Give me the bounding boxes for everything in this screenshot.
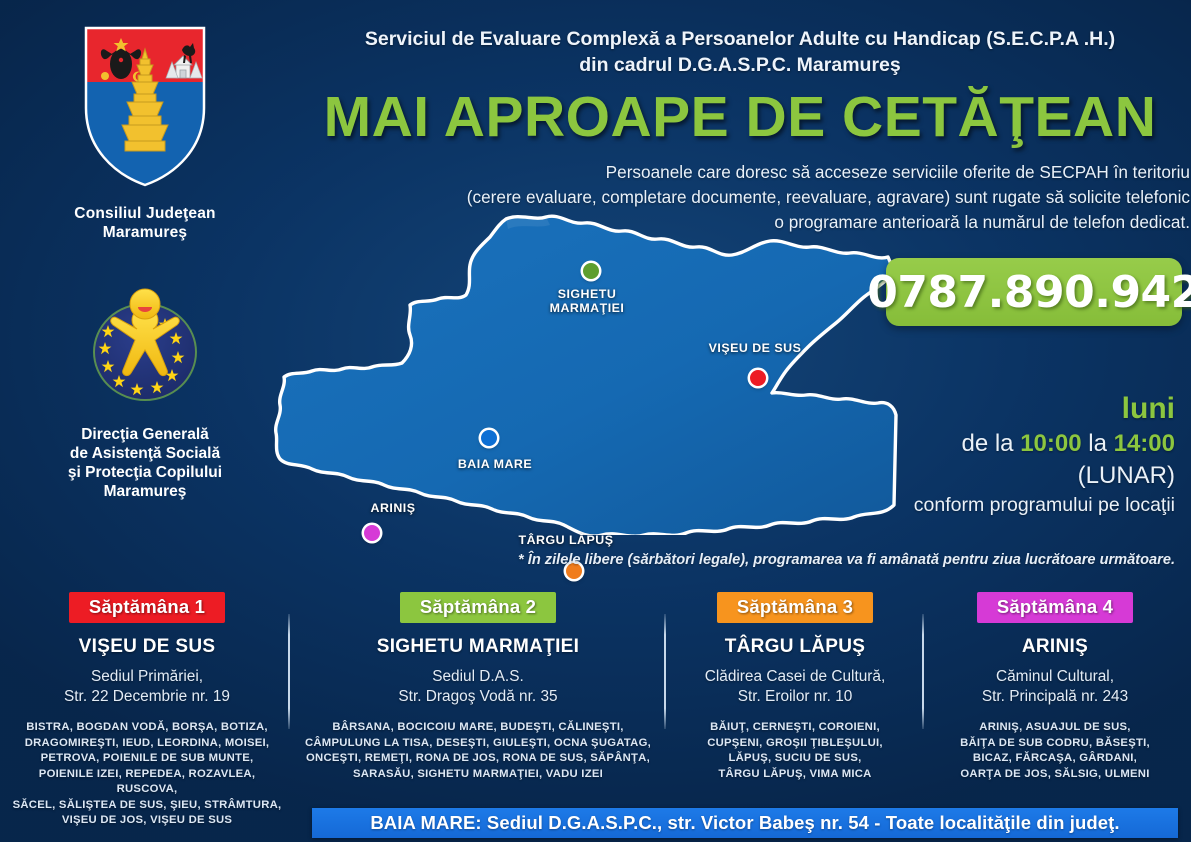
map-label-1: SIGHETU MARMAŢIEI [522, 287, 652, 315]
week-badge-1[interactable]: Săptămâna 1 [69, 592, 225, 623]
map-dot-3[interactable] [481, 430, 497, 446]
header-subtitle-line2: din cadrul D.G.A.S.P.C. Maramureş [300, 52, 1180, 78]
locality-line: LĂPUŞ, SUCIU DE SUS, [668, 751, 922, 767]
phone-number: 0787.890.942 [867, 267, 1191, 318]
locality-line: BISTRA, BOGDAN VODĂ, BORŞA, BOTIZA, [8, 720, 286, 736]
schedule-mid: la [1082, 430, 1114, 457]
week-address-line: Sediul D.A.S. [292, 667, 664, 687]
week-address-line: Str. Dragoş Vodă nr. 35 [292, 687, 664, 707]
locality-line: CUPŞENI, GROŞII ŢIBLEŞULUI, [668, 736, 922, 752]
locality-line: CÂMPULUNG LA TISA, DESEŞTI, GIULEŞTI, OC… [292, 736, 664, 752]
schedule-lunar: (LUNAR) [755, 460, 1175, 491]
locality-line: BĂIŢA DE SUB CODRU, BĂSEŞTI, [926, 736, 1184, 752]
week-divider-2 [664, 614, 666, 729]
crest-caption-line2: Maramureş [0, 223, 290, 242]
week-address-line: Str. Principală nr. 243 [926, 687, 1184, 707]
week-localities-3: BĂIUŢ, CERNEŞTI, COROIENI,CUPŞENI, GROŞI… [668, 720, 922, 782]
map-dot-2[interactable] [750, 370, 766, 386]
week-columns: Săptămâna 1VIŞEU DE SUSSediul Primăriei,… [0, 592, 1191, 807]
week-address-1: Sediul Primăriei,Str. 22 Decembrie nr. 1… [8, 667, 286, 707]
locality-line: BĂIUŢ, CERNEŞTI, COROIENI, [668, 720, 922, 736]
locality-line: PETROVA, POIENILE DE SUB MUNTE, [8, 751, 286, 767]
poster-root: Consiliul Judeţean Maramureş [0, 0, 1191, 842]
week-localities-4: ARINIŞ, ASUAJUL DE SUS,BĂIŢA DE SUB CODR… [926, 720, 1184, 782]
county-crest-icon [80, 24, 210, 194]
week-localities-2: BÂRSANA, BOCICOIU MARE, BUDEŞTI, CĂLINEŞ… [292, 720, 664, 782]
locality-line: BÂRSANA, BOCICOIU MARE, BUDEŞTI, CĂLINEŞ… [292, 720, 664, 736]
schedule-hours: de la 10:00 la 14:00 [755, 428, 1175, 460]
week-city-1: VIŞEU DE SUS [8, 636, 286, 658]
phone-number-box[interactable]: 0787.890.942 [886, 258, 1182, 326]
bottom-info-text: BAIA MARE: Sediul D.G.A.S.P.C., str. Vic… [370, 812, 1119, 834]
locality-line: ONCEŞTI, REMEŢI, RONA DE JOS, RONA DE SU… [292, 751, 664, 767]
locality-line: OARŢA DE JOS, SĂLSIG, ULMENI [926, 767, 1184, 783]
dgaspc-logo-icon [77, 278, 213, 415]
header-subtitle-line1: Serviciul de Evaluare Complexă a Persoan… [300, 26, 1180, 52]
week-badge-4[interactable]: Săptămâna 4 [977, 592, 1133, 623]
week-address-2: Sediul D.A.S.Str. Dragoş Vodă nr. 35 [292, 667, 664, 707]
map-label-3: BAIA MARE [430, 457, 560, 471]
week-city-3: TÂRGU LĂPUŞ [668, 636, 922, 658]
week-address-line: Sediul Primăriei, [8, 667, 286, 687]
locality-line: TÂRGU LĂPUŞ, VIMA MICA [668, 767, 922, 783]
week-address-line: Căminul Cultural, [926, 667, 1184, 687]
locality-line: SARASĂU, SIGHETU MARMAŢIEI, VADU IZEI [292, 767, 664, 783]
map-dot-1[interactable] [583, 263, 599, 279]
locality-line: POIENILE IZEI, REPEDEA, ROZAVLEA, RUSCOV… [8, 767, 286, 798]
dgaspc-caption-line1: Direcţia Generală [0, 425, 290, 444]
intro-line1: Persoanele care doresc să acceseze servi… [330, 160, 1190, 185]
dgaspc-caption: Direcţia Generală de Asistenţă Socială ş… [0, 425, 290, 501]
locality-line: SĂCEL, SĂLIŞTEA DE SUS, ŞIEU, STRÂMTURA, [8, 798, 286, 814]
dgaspc-caption-line3: şi Protecţia Copilului [0, 463, 290, 482]
map-label-4: ARINIŞ [328, 501, 458, 515]
crest-caption: Consiliul Judeţean Maramureş [0, 204, 290, 242]
schedule-prefix: de la [961, 430, 1020, 457]
locality-line: DRAGOMIREŞTI, IEUD, LEORDINA, MOISEI, [8, 736, 286, 752]
week-address-line: Str. Eroilor nr. 10 [668, 687, 922, 707]
week-divider-1 [288, 614, 290, 729]
schedule-block: luni de la 10:00 la 14:00 (LUNAR) confor… [755, 392, 1175, 519]
map-dot-4[interactable] [364, 525, 380, 541]
week-address-line: Clădirea Casei de Cultură, [668, 667, 922, 687]
schedule-from: 10:00 [1020, 430, 1081, 457]
week-city-4: ARINIŞ [926, 636, 1184, 658]
footnote: * În zilele libere (sărbători legale), p… [395, 552, 1175, 568]
week-address-4: Căminul Cultural,Str. Principală nr. 243 [926, 667, 1184, 707]
week-column-4: Săptămâna 4ARINIŞCăminul Cultural,Str. P… [926, 592, 1184, 782]
map-label-5: TÂRGU LĂPUŞ [501, 533, 631, 547]
week-badge-2[interactable]: Săptămâna 2 [400, 592, 556, 623]
week-column-1: Săptămâna 1VIŞEU DE SUSSediul Primăriei,… [8, 592, 286, 829]
week-city-2: SIGHETU MARMAŢIEI [292, 636, 664, 658]
week-column-3: Săptămâna 3TÂRGU LĂPUŞClădirea Casei de … [668, 592, 922, 782]
week-address-line: Str. 22 Decembrie nr. 19 [8, 687, 286, 707]
locality-line: BICAZ, FĂRCAŞA, GÂRDANI, [926, 751, 1184, 767]
dgaspc-caption-line2: de Asistenţă Socială [0, 444, 290, 463]
crest-caption-line1: Consiliul Judeţean [0, 204, 290, 223]
schedule-conform: conform programului pe locaţii [755, 492, 1175, 519]
week-badge-3[interactable]: Săptămâna 3 [717, 592, 873, 623]
header-block: Serviciul de Evaluare Complexă a Persoan… [300, 26, 1180, 150]
schedule-to: 14:00 [1114, 430, 1175, 457]
locality-line: ARINIŞ, ASUAJUL DE SUS, [926, 720, 1184, 736]
locality-line: VIŞEU DE JOS, VIŞEU DE SUS [8, 813, 286, 829]
week-column-2: Săptămâna 2SIGHETU MARMAŢIEISediul D.A.S… [292, 592, 664, 782]
schedule-day: luni [755, 392, 1175, 426]
page-title: MAI APROAPE DE CETĂŢEAN [300, 84, 1180, 150]
map-label-2: VIŞEU DE SUS [690, 341, 820, 355]
week-localities-1: BISTRA, BOGDAN VODĂ, BORŞA, BOTIZA,DRAGO… [8, 720, 286, 829]
logo-column: Consiliul Judeţean Maramureş [0, 10, 290, 501]
dgaspc-caption-line4: Maramureş [0, 482, 290, 501]
bottom-info-bar[interactable]: BAIA MARE: Sediul D.G.A.S.P.C., str. Vic… [312, 808, 1178, 838]
week-address-3: Clădirea Casei de Cultură,Str. Eroilor n… [668, 667, 922, 707]
week-divider-3 [922, 614, 924, 729]
